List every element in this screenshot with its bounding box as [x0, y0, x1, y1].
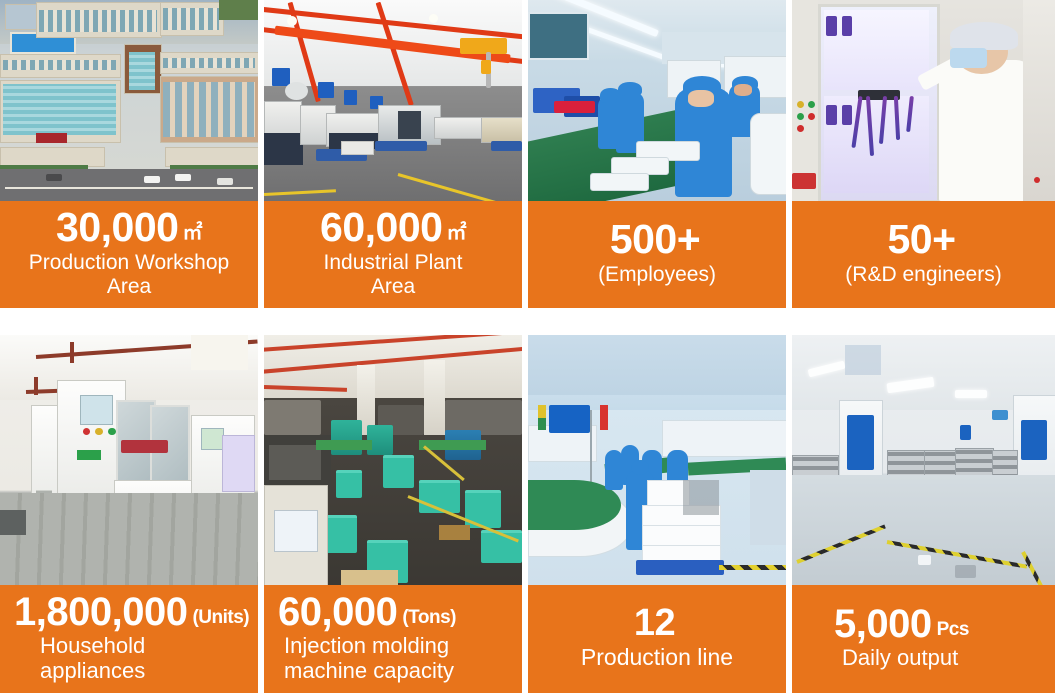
photo-rd-lab-engineer [792, 0, 1055, 201]
stat-number: 12 [634, 602, 675, 644]
photo-aerial-factory-campus [0, 0, 258, 201]
stat-caption: Production Workshop Area [29, 251, 229, 300]
capability-card[interactable]: 500+ (Employees) [528, 0, 786, 308]
card-cell-industrial-plant-area: 60,000㎡ Industrial Plant Area [264, 0, 528, 335]
card-cell-production-workshop-area: 30,000㎡ Production Workshop Area [0, 0, 264, 335]
stat-unit: (Tons) [402, 607, 456, 628]
photo-testing-equipment [0, 335, 258, 585]
caption-line-2: Area [29, 275, 229, 299]
stat-unit: (Units) [192, 607, 249, 628]
stat-caption: Injection molding machine capacity [278, 633, 454, 684]
stat-number-line: 12 [634, 604, 680, 644]
stat-caption: Household appliances [14, 633, 145, 684]
caption-line-1: Production line [581, 644, 733, 670]
caption-band: 50+ (R&D engineers) [792, 201, 1055, 308]
caption-line-1: Production Workshop [29, 251, 229, 275]
caption-line-1: Injection molding [284, 633, 454, 658]
stat-caption: Production line [581, 644, 733, 670]
stat-unit: Pcs [937, 619, 969, 640]
stat-number-line: 60,000㎡ [320, 207, 466, 249]
card-cell-daily-output: 5,000Pcs Daily output [792, 335, 1055, 693]
card-cell-injection-molding-capacity: 60,000(Tons) Injection molding machine c… [264, 335, 528, 693]
stat-number: 50+ [887, 216, 955, 262]
caption-band: 60,000㎡ Industrial Plant Area [264, 201, 522, 308]
stat-number-line: 30,000㎡ [56, 207, 202, 249]
card-cell-household-appliances: 1,800,000(Units) Household appliances [0, 335, 264, 693]
capability-card[interactable]: 5,000Pcs Daily output [792, 335, 1055, 693]
caption-band: 500+ (Employees) [528, 201, 786, 308]
stat-number: 60,000 [320, 204, 442, 250]
capability-card[interactable]: 60,000(Tons) Injection molding machine c… [264, 335, 522, 693]
stat-number-line: 60,000(Tons) [278, 591, 456, 633]
card-cell-rd-engineers: 50+ (R&D engineers) [792, 0, 1055, 335]
capability-card[interactable]: 50+ (R&D engineers) [792, 0, 1055, 308]
caption-line-1: Daily output [842, 645, 958, 670]
stat-caption: Industrial Plant Area [324, 251, 463, 300]
caption-line-2: appliances [40, 658, 145, 683]
card-cell-employees: 500+ (Employees) [528, 0, 792, 335]
card-cell-production-line: 12 Production line [528, 335, 792, 693]
stat-unit: ㎡ [182, 222, 202, 244]
capability-card[interactable]: 30,000㎡ Production Workshop Area [0, 0, 258, 308]
caption-band: 5,000Pcs Daily output [792, 585, 1055, 693]
stat-number-line: 50+ [887, 219, 959, 261]
stat-number-line: 1,800,000(Units) [14, 591, 249, 633]
photo-injection-molding-workshop [264, 335, 522, 585]
stat-caption: (R&D engineers) [845, 263, 1001, 287]
stat-number: 30,000 [56, 204, 178, 250]
capability-card-grid: 30,000㎡ Production Workshop Area [0, 0, 1059, 693]
stat-number: 500+ [610, 216, 700, 262]
stat-caption: (Employees) [598, 263, 716, 287]
capability-card[interactable]: 12 Production line [528, 335, 786, 693]
stat-number-line: 5,000Pcs [834, 603, 969, 645]
caption-line-2: machine capacity [284, 658, 454, 683]
photo-cnc-workshop [264, 0, 522, 201]
caption-band: 12 Production line [528, 585, 786, 693]
stat-number: 1,800,000 [14, 590, 187, 634]
stat-unit: ㎡ [446, 222, 466, 244]
caption-line-1: (Employees) [598, 263, 716, 287]
caption-band: 30,000㎡ Production Workshop Area [0, 201, 258, 308]
caption-line-1: (R&D engineers) [845, 263, 1001, 287]
stat-number: 5,000 [834, 602, 932, 646]
caption-line-1: Industrial Plant [324, 251, 463, 275]
capability-card[interactable]: 60,000㎡ Industrial Plant Area [264, 0, 522, 308]
photo-production-line-conveyor [528, 335, 786, 585]
stat-number: 60,000 [278, 590, 397, 634]
caption-line-1: Household [40, 633, 145, 658]
capability-card[interactable]: 1,800,000(Units) Household appliances [0, 335, 258, 693]
photo-assembly-line-workers [528, 0, 786, 201]
caption-band: 1,800,000(Units) Household appliances [0, 585, 258, 693]
stat-caption: Daily output [834, 645, 958, 670]
photo-clean-warehouse [792, 335, 1055, 585]
stat-number-line: 500+ [610, 219, 704, 261]
caption-line-2: Area [324, 275, 463, 299]
caption-band: 60,000(Tons) Injection molding machine c… [264, 585, 522, 693]
